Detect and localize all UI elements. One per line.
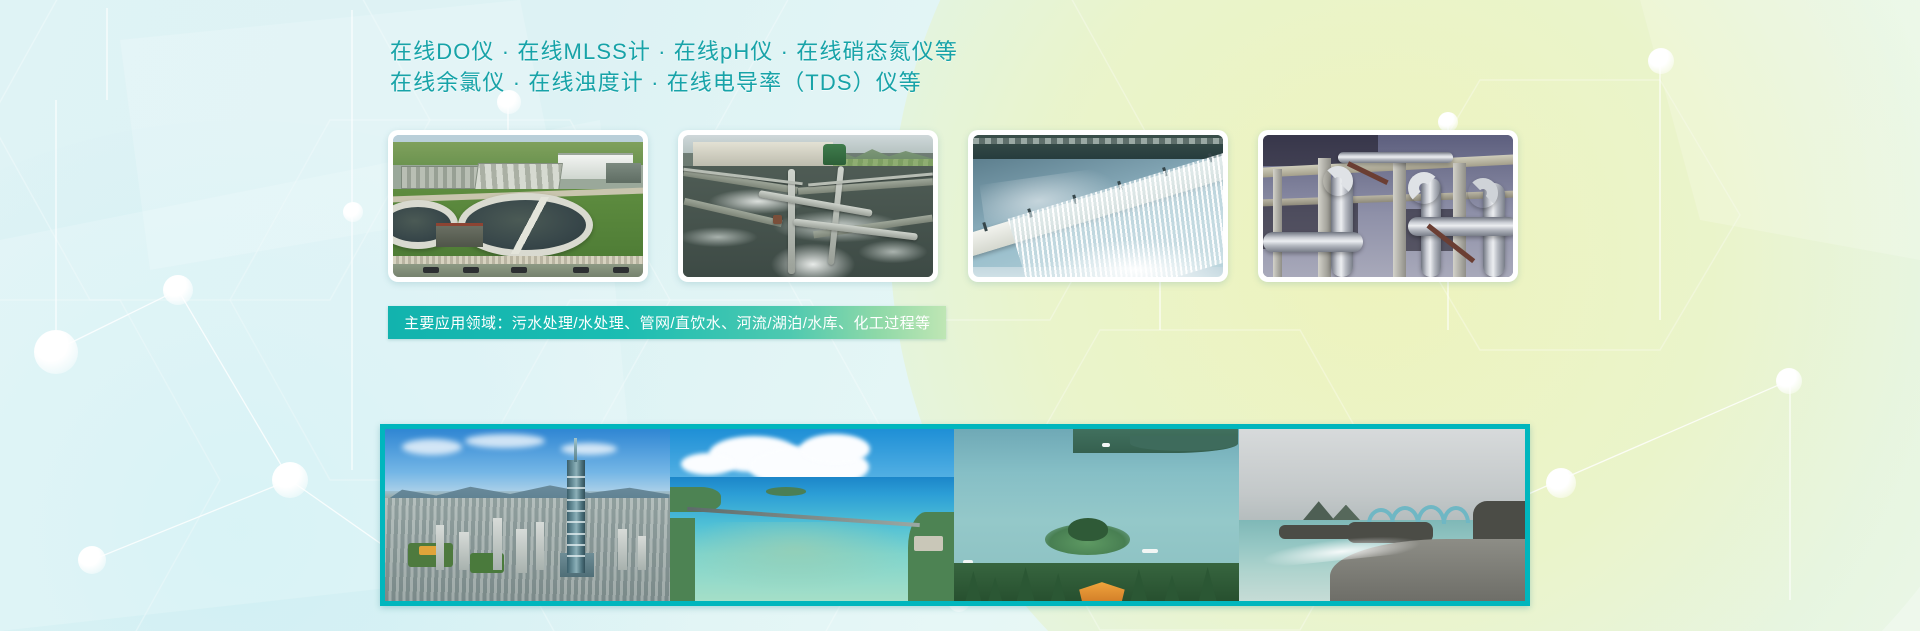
headline-block: 在线DO仪 · 在线MLSS计 · 在线pH仪 · 在线硝态氮仪等 在线余氯仪 … (390, 36, 958, 98)
decor-node (1776, 368, 1802, 394)
product-photo-card-wastewater-treatment-plant-aerial[interactable] (388, 130, 648, 282)
decor-node (163, 275, 193, 305)
scenery-photo-rocky-coast-arch-bridge[interactable] (1239, 429, 1525, 601)
decor-node (78, 546, 106, 574)
coastal-bay-image (670, 429, 955, 601)
aeration-basin-image (683, 135, 933, 277)
decor-node (272, 462, 308, 498)
decor-node (34, 330, 78, 374)
scenery-photo-strip (380, 424, 1530, 606)
scenery-photo-coastal-bay-causeway[interactable] (670, 429, 955, 601)
scenery-photo-lake-with-island[interactable] (954, 429, 1239, 601)
wastewater-treatment-plant-aerial-image (393, 135, 643, 277)
application-fields-banner: 主要应用领域：污水处理/水处理、管网/直饮水、河流/湖泊/水库、化工过程等 (388, 306, 946, 339)
city-skyline-image (385, 429, 670, 601)
scenery-photo-city-skyline-taipei-101[interactable] (385, 429, 670, 601)
decor-node (1438, 112, 1458, 132)
product-photo-card-weir-overflow[interactable] (968, 130, 1228, 282)
product-photo-card-chemical-plant-piping[interactable] (1258, 130, 1518, 282)
rocky-coast-image (1239, 429, 1525, 601)
application-fields-text: 主要应用领域：污水处理/水处理、管网/直饮水、河流/湖泊/水库、化工过程等 (404, 312, 930, 333)
lake-island-image (954, 429, 1239, 601)
decor-node (1546, 468, 1576, 498)
product-photo-card-aeration-basin[interactable] (678, 130, 938, 282)
decor-node (343, 202, 363, 222)
chemical-plant-piping-image (1263, 135, 1513, 277)
headline-line-1: 在线DO仪 · 在线MLSS计 · 在线pH仪 · 在线硝态氮仪等 (390, 36, 958, 67)
headline-line-2: 在线余氯仪 · 在线浊度计 · 在线电导率（TDS）仪等 (390, 67, 958, 98)
weir-overflow-image (973, 135, 1223, 277)
decor-node (1648, 48, 1674, 74)
product-photo-row (388, 130, 1518, 282)
